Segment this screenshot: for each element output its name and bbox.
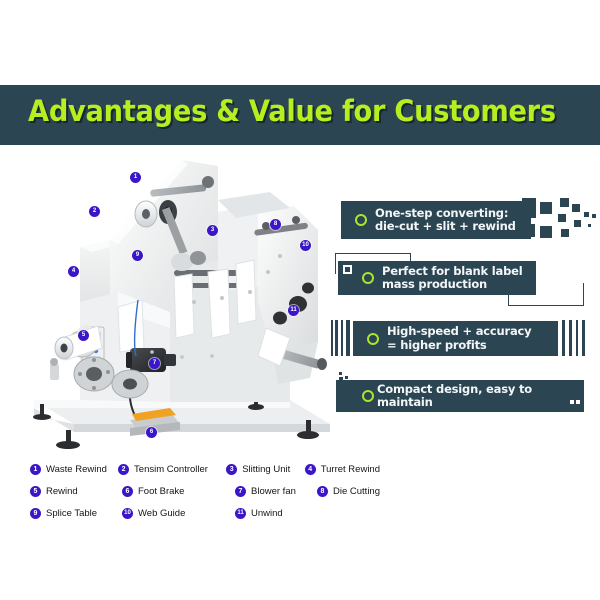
callout-2-line-2: mass production <box>382 278 522 292</box>
legend-number: 4 <box>305 464 316 475</box>
legend-number: 7 <box>235 486 246 497</box>
legend-number: 10 <box>122 508 133 519</box>
legend-number: 8 <box>317 486 328 497</box>
machine-marker-3[interactable]: 3 <box>207 225 218 236</box>
legend-label: Slitting Unit <box>242 464 290 475</box>
legend-number: 3 <box>226 464 237 475</box>
machine-marker-7[interactable]: 7 <box>149 358 160 369</box>
callout-3-barcode-left <box>331 320 353 356</box>
callout-2-line-1: Perfect for blank label <box>382 265 522 279</box>
machine-marker-6[interactable]: 6 <box>146 427 157 438</box>
machine-marker-4[interactable]: 4 <box>68 266 79 277</box>
slide-root: Advantages & Value for Customers <box>0 0 600 600</box>
legend-label: Splice Table <box>46 508 97 519</box>
machine-marker-1[interactable]: 1 <box>130 172 141 183</box>
machine-marker-2[interactable]: 2 <box>89 206 100 217</box>
machine-marker-11[interactable]: 11 <box>288 305 299 316</box>
legend-item-7[interactable]: 7 Blower fan <box>235 486 317 497</box>
machine-marker-10[interactable]: 10 <box>300 240 311 251</box>
legend-item-3[interactable]: 3 Slitting Unit <box>226 464 304 475</box>
callout-3-line-2: = higher profits <box>387 339 531 353</box>
legend-item-10[interactable]: 10 Web Guide <box>122 508 235 519</box>
legend-label: Blower fan <box>251 486 296 497</box>
bullet-ring-icon <box>362 272 374 284</box>
legend-row: 9 Splice Table 10 Web Guide 11 Unwind <box>30 502 380 524</box>
machine-photo: 1 2 3 4 5 6 7 8 9 10 11 <box>22 152 342 450</box>
callout-1-line-2: die-cut + slit + rewind <box>375 220 516 234</box>
legend-number: 6 <box>122 486 133 497</box>
legend-number: 11 <box>235 508 246 519</box>
bullet-ring-icon <box>355 214 367 226</box>
machine-illustration <box>22 152 342 450</box>
bullet-ring-icon <box>362 390 374 402</box>
callout-compact-design[interactable]: Compact design, easy to maintain <box>336 380 584 412</box>
legend-label: Unwind <box>251 508 283 519</box>
callout-4-line-1: Compact design, easy to maintain <box>377 383 584 410</box>
callout-1-decoration <box>522 198 600 244</box>
legend-item-6[interactable]: 6 Foot Brake <box>122 486 235 497</box>
legend-item-1[interactable]: 1 Waste Rewind <box>30 464 118 475</box>
legend-item-2[interactable]: 2 Tensim Controller <box>118 464 226 475</box>
legend-number: 1 <box>30 464 41 475</box>
legend-label: Foot Brake <box>138 486 184 497</box>
legend-item-9[interactable]: 9 Splice Table <box>30 508 122 519</box>
legend-label: Turret Rewind <box>321 464 380 475</box>
legend-label: Tensim Controller <box>134 464 208 475</box>
callout-one-step-converting[interactable]: One-step converting: die-cut + slit + re… <box>341 201 531 239</box>
legend-number: 5 <box>30 486 41 497</box>
callout-1-line-1: One-step converting: <box>375 207 516 221</box>
machine-marker-8[interactable]: 8 <box>270 219 281 230</box>
legend-label: Rewind <box>46 486 78 497</box>
callout-3-line-1: High-speed + accuracy <box>387 325 531 339</box>
legend-label: Web Guide <box>138 508 185 519</box>
callout-4-corner-dots <box>570 400 584 408</box>
legend-row: 5 Rewind 6 Foot Brake 7 Blower fan 8 Die… <box>30 480 380 502</box>
legend-row: 1 Waste Rewind 2 Tensim Controller 3 Sli… <box>30 458 380 480</box>
legend-item-8[interactable]: 8 Die Cutting <box>317 486 380 497</box>
bullet-ring-icon <box>367 333 379 345</box>
legend-item-11[interactable]: 11 Unwind <box>235 508 317 519</box>
page-title: Advantages & Value for Customers <box>28 94 556 128</box>
legend-item-4[interactable]: 4 Turret Rewind <box>305 464 380 475</box>
legend-label: Die Cutting <box>333 486 380 497</box>
legend-number: 9 <box>30 508 41 519</box>
legend-label: Waste Rewind <box>46 464 107 475</box>
legend-item-5[interactable]: 5 Rewind <box>30 486 122 497</box>
machine-marker-5[interactable]: 5 <box>78 330 89 341</box>
legend-number: 2 <box>118 464 129 475</box>
machine-marker-9[interactable]: 9 <box>132 250 143 261</box>
callout-3-barcode-right <box>562 320 588 356</box>
legend: 1 Waste Rewind 2 Tensim Controller 3 Sli… <box>30 458 380 524</box>
callout-high-speed-accuracy[interactable]: High-speed + accuracy = higher profits <box>353 321 558 356</box>
callout-blank-label-production[interactable]: Perfect for blank label mass production <box>338 261 536 295</box>
